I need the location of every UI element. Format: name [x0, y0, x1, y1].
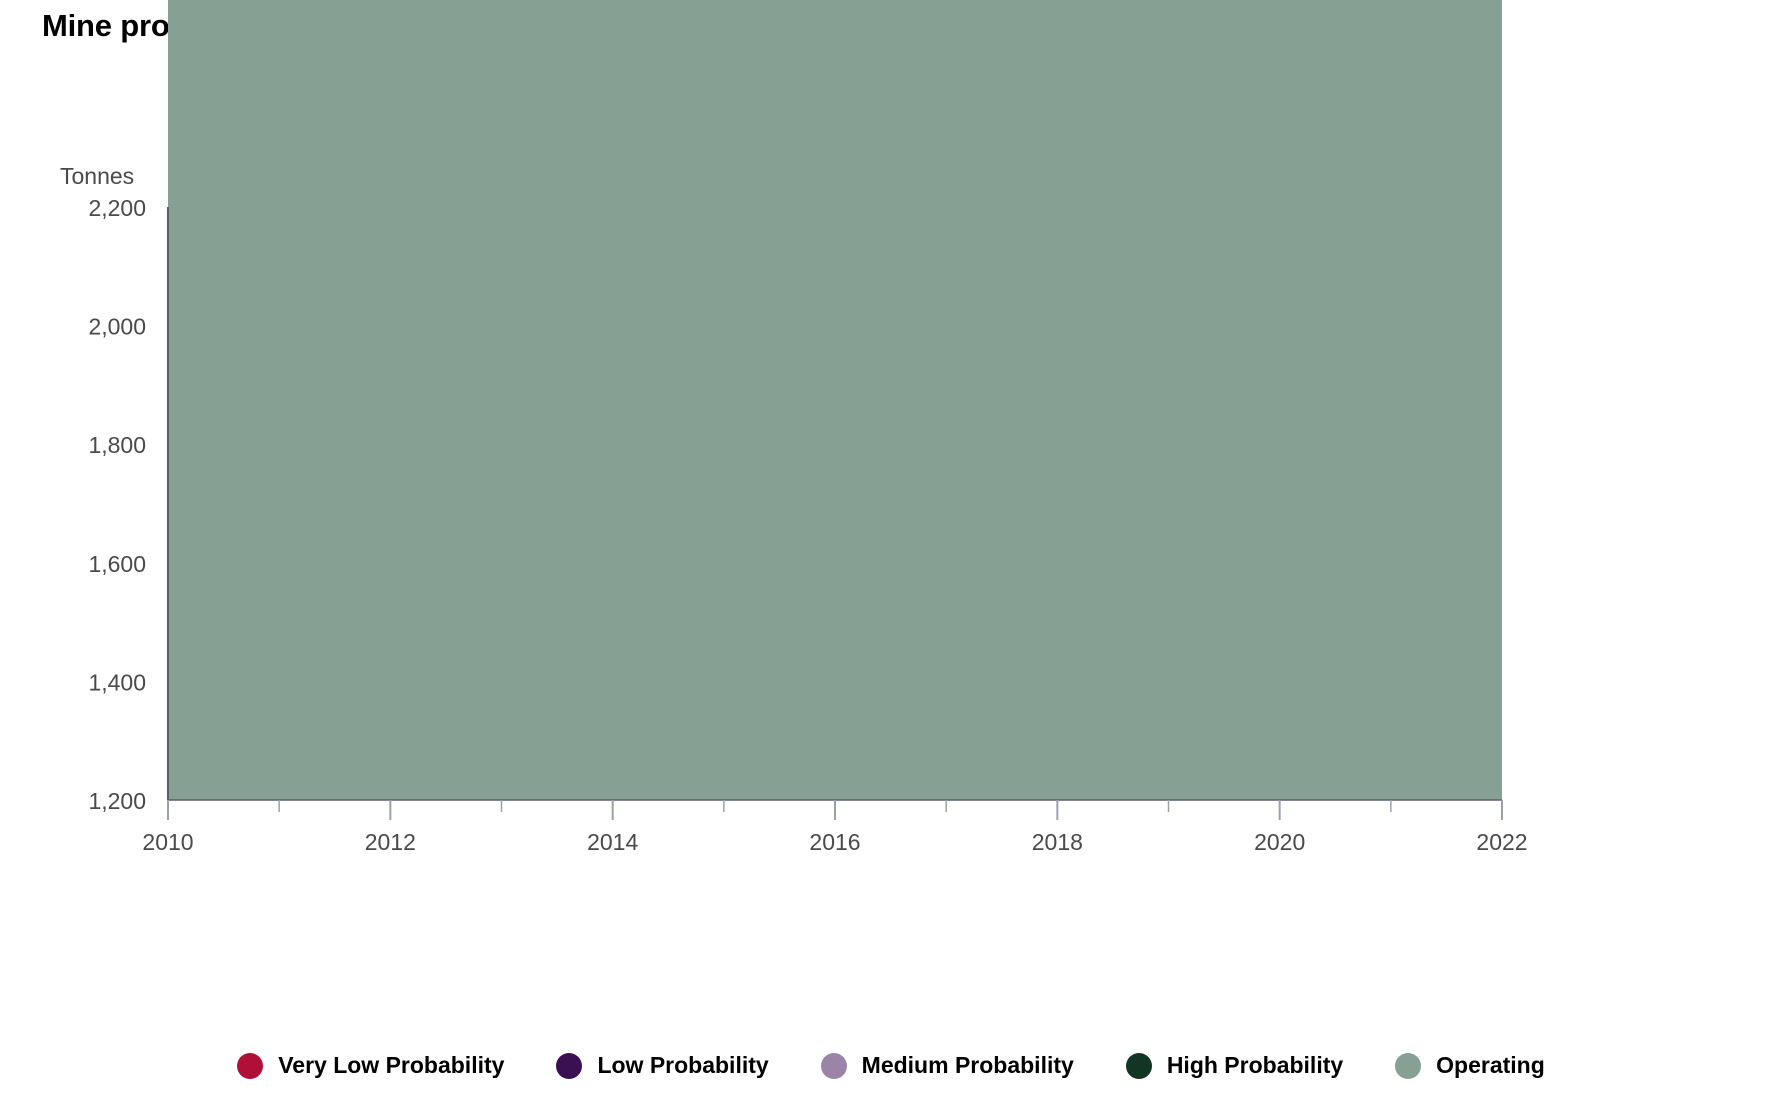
x-tick-label: 2010	[142, 829, 193, 855]
x-tick-label: 2022	[1476, 829, 1527, 855]
legend-item-high-probability[interactable]: High Probability	[1126, 1052, 1343, 1079]
chart-container: Mine production likely to drop beyond 20…	[0, 0, 1782, 1108]
chart-legend: Very Low Probability Low Probability Med…	[0, 1052, 1782, 1079]
legend-swatch-high-probability	[1126, 1053, 1152, 1079]
x-tick-label: 2012	[365, 829, 416, 855]
legend-item-low-probability[interactable]: Low Probability	[556, 1052, 768, 1079]
legend-swatch-operating	[1395, 1053, 1421, 1079]
legend-swatch-low-probability	[556, 1053, 582, 1079]
x-axis-tick-labels: 2010201220142016201820202022	[142, 829, 1527, 855]
legend-label-very-low-probability: Very Low Probability	[278, 1052, 504, 1079]
y-tick-label: 1,400	[88, 669, 146, 695]
legend-label-medium-probability: Medium Probability	[862, 1052, 1074, 1079]
legend-swatch-medium-probability	[821, 1053, 847, 1079]
legend-item-very-low-probability[interactable]: Very Low Probability	[237, 1052, 504, 1079]
legend-label-high-probability: High Probability	[1167, 1052, 1343, 1079]
legend-item-operating[interactable]: Operating	[1395, 1052, 1545, 1079]
x-tick-label: 2018	[1032, 829, 1083, 855]
y-tick-label: 1,600	[88, 551, 146, 577]
area-series-group	[168, 0, 1502, 800]
legend-swatch-very-low-probability	[237, 1053, 263, 1079]
y-axis-tick-labels: 1,2001,4001,6001,8002,0002,200	[88, 195, 146, 814]
x-tick-label: 2020	[1254, 829, 1305, 855]
stacked-area-plot: 1,2001,4001,6001,8002,0002,200 201020122…	[0, 0, 1782, 1108]
y-tick-label: 1,200	[88, 788, 146, 814]
y-tick-label: 2,000	[88, 314, 146, 340]
legend-item-medium-probability[interactable]: Medium Probability	[821, 1052, 1074, 1079]
y-tick-label: 2,200	[88, 195, 146, 221]
x-tick-label: 2014	[587, 829, 638, 855]
y-tick-label: 1,800	[88, 432, 146, 458]
legend-label-operating: Operating	[1436, 1052, 1545, 1079]
x-tick-label: 2016	[809, 829, 860, 855]
legend-label-low-probability: Low Probability	[597, 1052, 768, 1079]
